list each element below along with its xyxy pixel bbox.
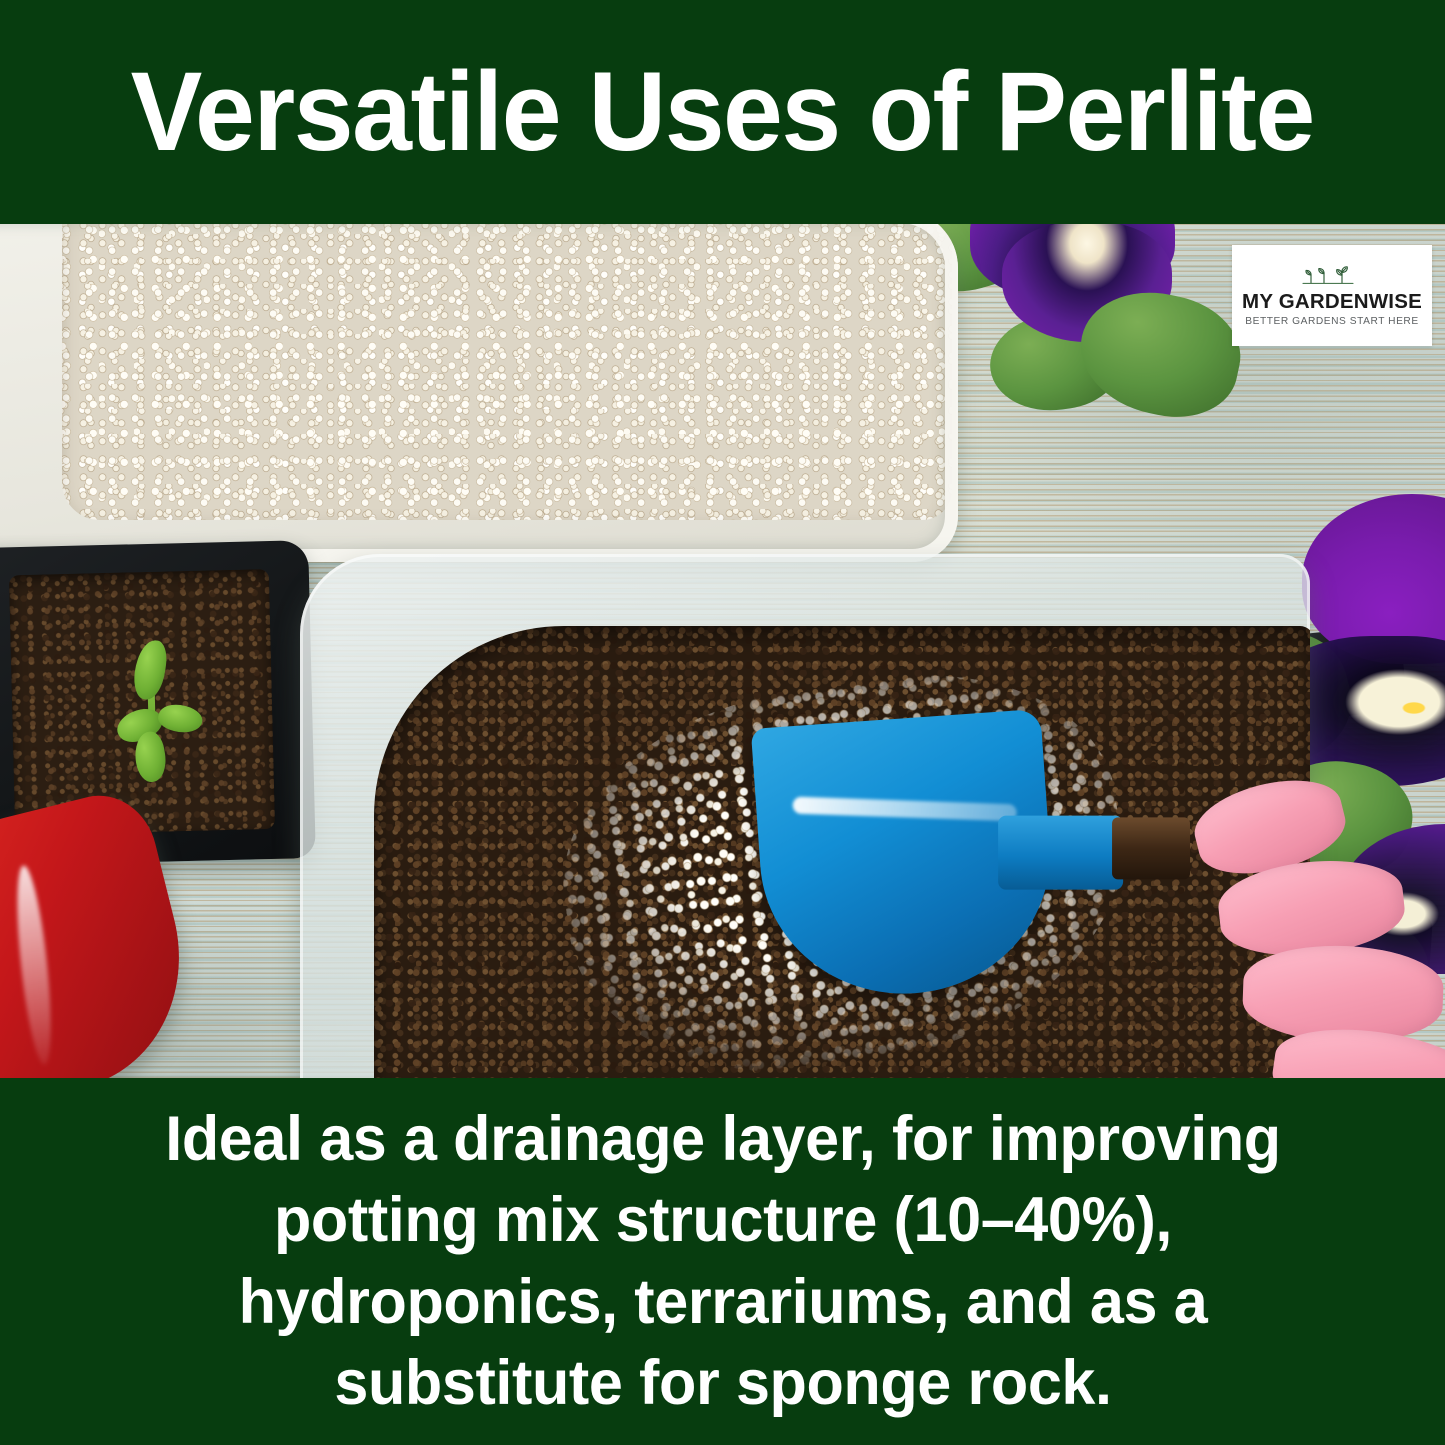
blue-trowel: [750, 690, 1190, 1019]
hero-photo: MY GARDENWISE BETTER GARDENS START HERE: [0, 224, 1445, 1078]
footer-bar: Ideal as a drainage layer, for improving…: [0, 1078, 1445, 1445]
red-trowel-highlight: [11, 865, 58, 1067]
logo-tagline: BETTER GARDENS START HERE: [1245, 317, 1418, 327]
perlite-uses-infographic: Versatile Uses of Perlite: [0, 0, 1445, 1445]
three-sprouts-icon: [1299, 264, 1365, 288]
logo-brand-name: MY GARDENWISE: [1242, 292, 1422, 313]
brand-logo-badge[interactable]: MY GARDENWISE BETTER GARDENS START HERE: [1232, 245, 1432, 346]
perlite-tray: [0, 224, 958, 562]
green-seedling: [108, 638, 222, 791]
blue-trowel-ferrule: [1112, 817, 1190, 879]
pink-glove: [1185, 784, 1445, 1078]
perlite-tray-rim: [0, 224, 958, 562]
seedling-leaf: [131, 638, 169, 701]
seedling-leaf: [156, 700, 205, 737]
pansy-flower: [960, 224, 1240, 434]
blue-trowel-neck: [998, 816, 1123, 890]
header-bar: Versatile Uses of Perlite: [0, 0, 1445, 224]
page-title: Versatile Uses of Perlite: [131, 56, 1314, 168]
caption-text: Ideal as a drainage layer, for improving…: [116, 1099, 1329, 1424]
